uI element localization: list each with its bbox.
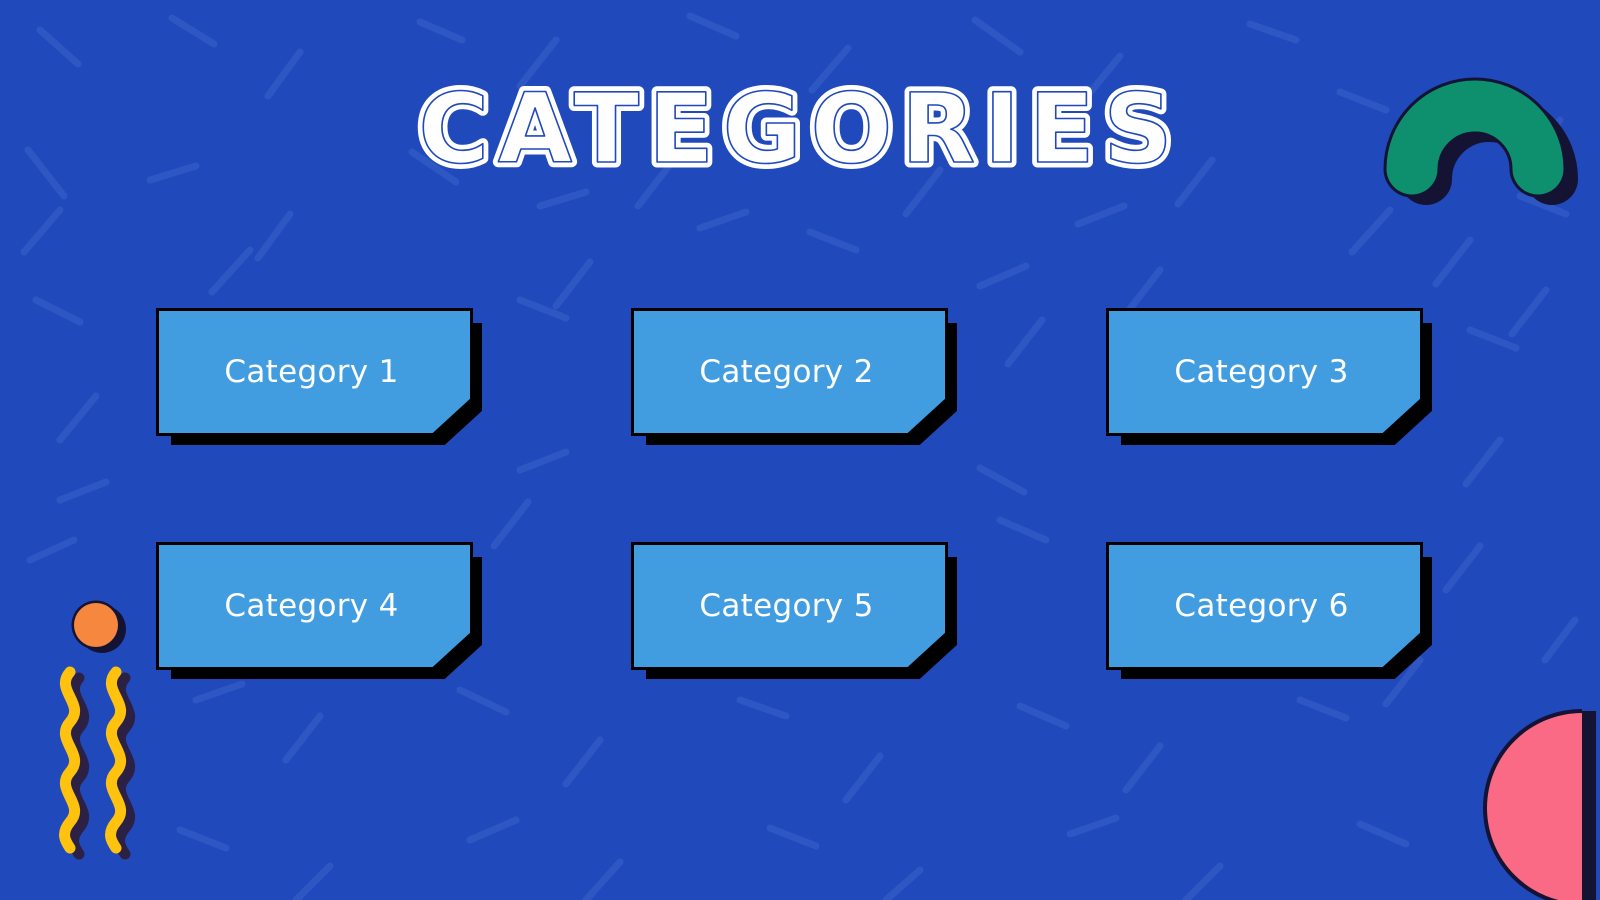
category-card-3[interactable]: Category 3 [1109, 311, 1420, 433]
categories-grid: Category 1 Category 2 Category 3 Categor… [159, 311, 1421, 667]
category-card-label: Category 4 [224, 591, 404, 622]
pink-semicircle-decoration [1470, 695, 1600, 900]
category-card-1[interactable]: Category 1 [159, 311, 470, 433]
green-arch-fill [1412, 106, 1538, 169]
orange-circle-fill [74, 603, 118, 647]
slide-canvas: .ttl-base{ font-family:"DejaVu Sans", sa… [0, 0, 1600, 900]
orange-circle-decoration [52, 582, 142, 672]
green-arch-decoration [1360, 34, 1590, 174]
category-card-label: Category 3 [1174, 357, 1354, 388]
card-face[interactable]: Category 1 [159, 311, 470, 433]
pink-semicircle-outline [1483, 709, 1582, 900]
category-card-label: Category 1 [224, 357, 404, 388]
card-face[interactable]: Category 4 [159, 545, 470, 667]
page-title-fill: CATEGORIES [418, 73, 1181, 185]
orange-circle-outline [72, 601, 121, 650]
category-card-label: Category 5 [699, 591, 879, 622]
green-arch-shadow [1426, 116, 1552, 179]
card-face[interactable]: Category 3 [1109, 311, 1420, 433]
pink-semicircle-shadow-strip [1582, 711, 1596, 900]
card-face[interactable]: Category 2 [634, 311, 945, 433]
yellow-squiggles-fill [65, 672, 121, 848]
category-card-label: Category 2 [699, 357, 879, 388]
green-arch-outline [1412, 106, 1538, 169]
card-face[interactable]: Category 6 [1109, 545, 1420, 667]
page-title-inner-outline: CATEGORIES [418, 73, 1181, 185]
page-title: .ttl-base{ font-family:"DejaVu Sans", sa… [0, 78, 1600, 188]
pink-semicircle-fill [1487, 713, 1582, 900]
category-card-4[interactable]: Category 4 [159, 545, 470, 667]
pink-semicircle-shadow [1497, 711, 1594, 900]
category-card-label: Category 6 [1174, 591, 1354, 622]
category-card-6[interactable]: Category 6 [1109, 545, 1420, 667]
card-face[interactable]: Category 5 [634, 545, 945, 667]
category-card-5[interactable]: Category 5 [634, 545, 945, 667]
yellow-squiggles-decoration [40, 660, 160, 860]
orange-circle-shadow [78, 605, 126, 653]
category-card-2[interactable]: Category 2 [634, 311, 945, 433]
yellow-squiggles-shadow [74, 678, 130, 854]
